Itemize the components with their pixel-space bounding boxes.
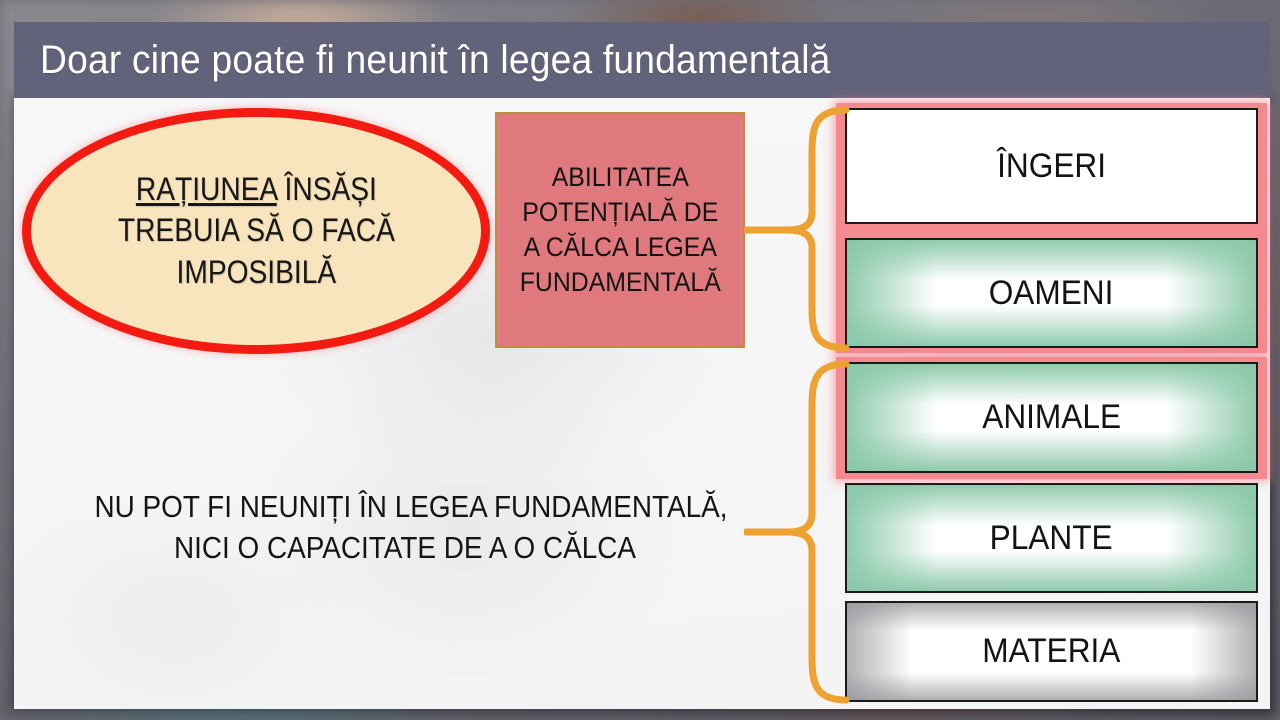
ratiunea-underlined-word: RAȚIUNEA (136, 171, 277, 207)
category-box-plante: PLANTE (845, 483, 1258, 593)
page-title: Doar cine poate fi neunit în legea funda… (14, 38, 831, 83)
ratiunea-line1-rest: ÎNSĂȘI (276, 171, 376, 207)
ratiunea-oval: RAȚIUNEA ÎNSĂȘI TREBUIA SĂ O FACĂ IMPOSI… (22, 108, 490, 354)
abilitatea-line4: FUNDAMENTALĂ (519, 265, 720, 300)
category-box-ingeri: ÎNGERI (845, 108, 1258, 224)
bottom-statement-line2: NICI O CAPACITATE DE A O CĂLCA (95, 528, 716, 569)
abilitatea-line1: ABILITATEA (519, 160, 720, 195)
nu-pot-fi-neuniti-text: NU POT FI NEUNIȚI ÎN LEGEA FUNDAMENTALĂ,… (95, 487, 716, 569)
category-label-oameni: OAMENI (989, 274, 1114, 313)
category-box-materia: MATERIA (845, 601, 1258, 702)
slide: Doar cine poate fi neunit în legea funda… (0, 0, 1280, 720)
abilitatea-potentiala-box: ABILITATEA POTENȚIALĂ DE A CĂLCA LEGEA F… (495, 112, 745, 348)
ratiunea-oval-text: RAȚIUNEA ÎNSĂȘI TREBUIA SĂ O FACĂ IMPOSI… (118, 169, 395, 294)
category-label-animale: ANIMALE (982, 398, 1121, 437)
slide-title-bar: Doar cine poate fi neunit în legea funda… (14, 22, 1270, 98)
bottom-statement-line1: NU POT FI NEUNIȚI ÎN LEGEA FUNDAMENTALĂ, (95, 487, 716, 528)
category-label-plante: PLANTE (990, 519, 1113, 558)
category-box-animale: ANIMALE (845, 362, 1258, 473)
category-label-materia: MATERIA (982, 632, 1120, 671)
category-label-ingeri: ÎNGERI (997, 147, 1106, 186)
abilitatea-line3: A CĂLCA LEGEA (519, 230, 720, 265)
ratiunea-line3: IMPOSIBILĂ (118, 252, 395, 294)
category-box-oameni: OAMENI (845, 238, 1258, 348)
ratiunea-line2: TREBUIA SĂ O FACĂ (118, 210, 395, 252)
abilitatea-line2: POTENȚIALĂ DE (519, 195, 720, 230)
abilitatea-text: ABILITATEA POTENȚIALĂ DE A CĂLCA LEGEA F… (519, 160, 720, 300)
